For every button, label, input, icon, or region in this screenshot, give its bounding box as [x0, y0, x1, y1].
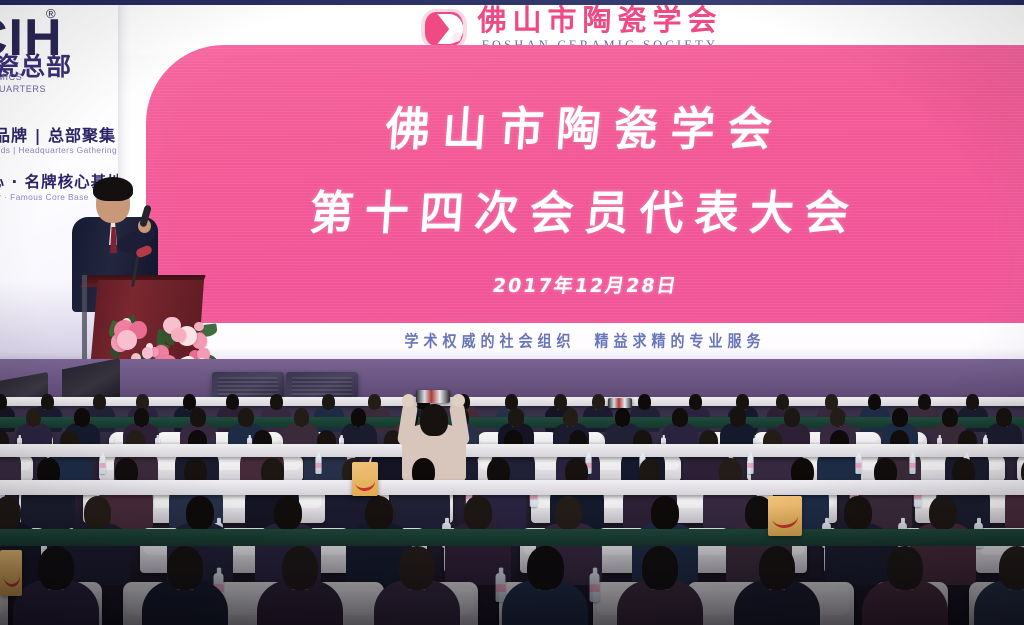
audience-head [322, 394, 335, 410]
audience-head [238, 408, 254, 427]
banner-date: 2017年12月28日 [490, 271, 679, 298]
audience-head [190, 408, 206, 427]
audience-head [365, 496, 393, 530]
audience-head [74, 408, 90, 427]
audience-member-recording-2 [608, 398, 648, 444]
water-bottle [589, 574, 599, 603]
conference-table [0, 529, 1024, 546]
audience-head [563, 408, 579, 427]
conference-table [0, 444, 1024, 457]
audience-seating-area [0, 400, 1024, 625]
audience-head [555, 496, 583, 530]
recorder-hand-right [452, 394, 465, 407]
banner-line-2: 第十四次会员代表大会 [308, 175, 863, 242]
audience-head [527, 546, 563, 590]
ceramic-society-logo-icon [421, 9, 467, 49]
audience-head [999, 546, 1024, 590]
audience-head [282, 546, 318, 590]
audience-head [651, 496, 679, 530]
audience-member [257, 546, 343, 625]
recorder-head [420, 404, 448, 436]
audience-head [830, 408, 846, 427]
recorder-hand-left [402, 394, 415, 407]
audience-head [134, 408, 150, 427]
cih-tagline-cn-1: 高端品牌 | 总部聚集 [0, 122, 116, 146]
audience-head [186, 496, 214, 530]
audience-head [0, 496, 21, 530]
audience-head [996, 408, 1012, 427]
conference-gift-bag [0, 550, 22, 596]
audience-head [892, 408, 908, 427]
audience-head [270, 394, 283, 410]
audience-head [759, 546, 795, 590]
audience-head [351, 408, 367, 427]
audience-head [844, 496, 872, 530]
audience-member [13, 546, 99, 625]
audience-head [508, 408, 524, 427]
audience-member [862, 546, 948, 625]
conference-gift-bag [352, 462, 378, 496]
cih-brand-en-1: CERAMICS [0, 72, 22, 82]
conference-gift-bag [768, 496, 802, 536]
audience-head [918, 394, 931, 410]
flower [117, 330, 137, 350]
audience-head [26, 408, 42, 427]
audience-head [38, 546, 74, 590]
audience-member [502, 546, 588, 625]
audience-head [784, 408, 800, 427]
audience-head [0, 394, 7, 410]
audience-member [142, 546, 228, 625]
smartphone-recording [416, 390, 450, 403]
slogan-text: 学术权威的社会组织 精益求精的专业服务 [405, 330, 766, 352]
banner-line-1: 佛山市陶瓷学会 [383, 91, 787, 158]
speaker-at-podium [60, 175, 230, 385]
audience-head [942, 408, 958, 427]
flower [194, 322, 203, 331]
slogan-bar: 学术权威的社会组织 精益求精的专业服务 [146, 323, 1024, 359]
cih-tagline-en-1: Top Brands | Headquarters Gathering [0, 145, 117, 155]
cih-brand-en-2: HEADQUARTERS [0, 84, 46, 94]
ceiling-strip [0, 0, 1024, 5]
audience-member [974, 546, 1024, 625]
audience-head [730, 408, 746, 427]
society-name-cn: 佛山市陶瓷学会 [477, 6, 722, 35]
audience-head [672, 408, 688, 427]
flower [171, 328, 185, 342]
registered-mark-icon: ® [46, 6, 56, 21]
audience-member [617, 546, 703, 625]
audience-head [84, 496, 112, 530]
audience-head [464, 496, 492, 530]
audience-head [592, 394, 605, 410]
conference-table [0, 480, 1024, 495]
audience-member [1005, 458, 1024, 536]
audience-head [966, 394, 979, 410]
audience-member [374, 546, 460, 625]
pink-led-backdrop: 佛山市陶瓷学会 第十四次会员代表大会 2017年12月28日 [146, 45, 1024, 323]
audience-head [887, 546, 923, 590]
speaker-hair [93, 177, 133, 201]
audience-head [929, 496, 957, 530]
audience-head [167, 546, 203, 590]
audience-head [868, 394, 881, 410]
audience-head [642, 546, 678, 590]
conference-photo-scene: 佛山市陶瓷学会 FOSHAN CERAMIC SOCIETY 佛山市陶瓷学会 第… [0, 0, 1024, 625]
audience-head [294, 408, 310, 427]
audience-head [274, 496, 302, 530]
smartphone-recording-2 [608, 398, 632, 408]
audience-member [734, 546, 820, 625]
banner-text-block: 佛山市陶瓷学会 第十四次会员代表大会 2017年12月28日 [146, 45, 1024, 323]
audience-head [399, 546, 435, 590]
water-bottle [315, 456, 321, 474]
